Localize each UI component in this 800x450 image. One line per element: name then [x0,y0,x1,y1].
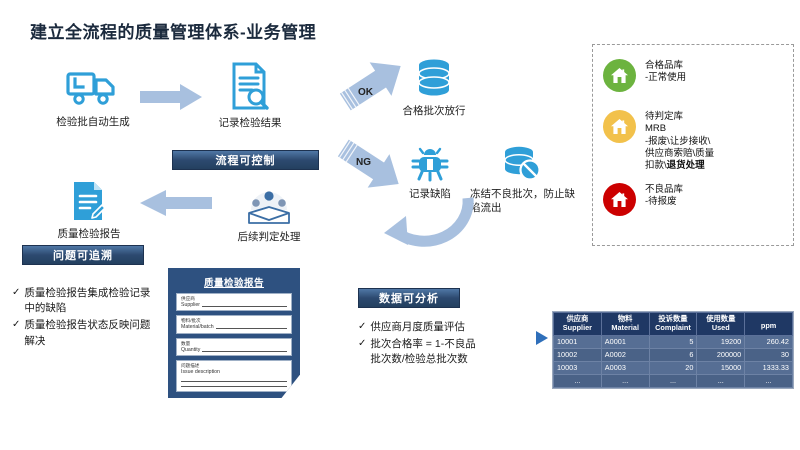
table-header-supplier-en: Supplier [557,324,598,333]
cell-complaint: ... [649,374,697,387]
list-item-label: 质量检验报告集成检验记录中的缺陷 [24,286,154,316]
flow-step-release-batch: 合格批次放行 [388,58,480,118]
report-field-quantity-rule [202,351,287,352]
warehouse-item-defective: 不良品库 -待报废 [593,183,793,216]
banner-problem-traceable: 问题可追溯 [22,245,144,265]
warehouse-pending-line1: 待判定库 [645,111,714,123]
bug-icon [390,148,470,182]
list-item: ✓ 供应商月度质量评估 [358,320,476,335]
arrow-loop-back [372,192,480,254]
table-header-material-en: Material [605,324,646,333]
table-header-used: 使用数量 Used [697,313,745,336]
home-icon-green [603,59,636,92]
cell-complaint: 20 [649,361,697,374]
check-icon: ✓ [358,320,366,335]
warehouse-item-defective-text: 不良品库 -待报废 [645,183,683,209]
document-search-icon [205,62,295,110]
cell-used: 200000 [697,348,745,361]
warehouse-pending-line3: -报废\让步接收\ [645,136,714,148]
warehouse-defective-line2: -待报废 [645,196,683,208]
report-field-supplier: 供应商 Supplier [176,293,292,311]
quality-report-card-title: 质量检验报告 [168,275,300,289]
traceability-checklist: ✓ 质量检验报告集成检验记录中的缺陷 ✓ 质量检验报告状态反映问题解决 [12,286,154,351]
home-icon-red [603,183,636,216]
database-icon [388,58,480,98]
table-row: 10002 A0002 6 200000 30 [554,348,793,361]
list-item: ✓ 质量检验报告集成检验记录中的缺陷 [12,286,154,316]
cell-supplier: 10001 [554,335,602,348]
table-header-material: 物料 Material [601,313,649,336]
cell-material: A0002 [601,348,649,361]
report-field-supplier-rule [202,306,287,307]
report-field-material: 物料/批次 Material/batch [176,315,292,333]
report-field-supplier-en: Supplier [181,302,200,309]
table-header-used-en: Used [700,324,741,333]
flow-step-followup-judgment-label: 后续判定处理 [228,230,310,244]
list-item: ✓ 批次合格率 = 1-不良品批次数/检验总批次数 [358,337,476,367]
warehouse-defective-line1: 不良品库 [645,184,683,196]
flow-step-followup-judgment: 后续判定处理 [228,186,310,244]
warehouse-item-qualified-text: 合格品库 -正常使用 [645,59,686,85]
flow-step-record-result-label: 记录检验结果 [205,116,295,130]
table-row: 10001 A0001 5 19200 260.42 [554,335,793,348]
table-row: 10003 A0003 20 15000 1333.33 [554,361,793,374]
flow-step-freeze-batch-label: 冻结不良批次，防止缺陷流出 [468,187,578,215]
arrow-right-1 [140,84,202,110]
table-header-row: 供应商 Supplier 物料 Material 投诉数量 Complaint … [554,313,793,336]
cell-ppm: 260.42 [745,335,793,348]
cell-used: ... [697,374,745,387]
report-field-issue: 问题描述 Issue description [176,360,292,391]
warehouse-qualified-line2: -正常使用 [645,72,686,84]
quality-report-card: 质量检验报告 供应商 Supplier 物料/批次 Material/batch… [168,268,300,398]
cell-ppm: ... [745,374,793,387]
table-header-supplier: 供应商 Supplier [554,313,602,336]
list-item: ✓ 质量检验报告状态反映问题解决 [12,318,154,348]
page-title: 建立全流程的质量管理体系-业务管理 [30,18,316,43]
flow-step-release-batch-label: 合格批次放行 [388,104,480,118]
report-field-material-en: Material/batch [181,324,214,331]
report-field-issue-rule-1 [181,381,287,382]
report-field-material-rule [216,328,287,329]
flow-step-record-result: 记录检验结果 [205,62,295,130]
cell-supplier: 10003 [554,361,602,374]
warehouse-pending-line4: 供应商索赔\质量 [645,148,714,160]
flow-step-inspection-lot: 检验批自动生成 [48,68,138,129]
banner-process-controllable: 流程可控制 [172,150,319,170]
table-row: ... ... ... ... ... [554,374,793,387]
table-header-complaint-en: Complaint [653,324,694,333]
check-icon: ✓ [12,286,20,316]
cell-ppm: 30 [745,348,793,361]
check-icon: ✓ [358,337,366,367]
analysis-checklist: ✓ 供应商月度质量评估 ✓ 批次合格率 = 1-不良品批次数/检验总批次数 [358,320,476,370]
cell-supplier: ... [554,374,602,387]
arrow-ng-label: NG [356,157,371,168]
table-header-ppm-en: ppm [748,316,789,331]
list-item-label: 供应商月度质量评估 [370,320,476,335]
cell-supplier: 10002 [554,348,602,361]
warehouse-item-pending: 待判定库 MRB -报废\让步接收\ 供应商索赔\质量 扣款\退货处理 [593,110,793,173]
report-field-issue-en: Issue description [181,369,287,376]
warehouse-pending-line5-bold: 退货处理 [667,160,705,171]
table-header-ppm: ppm [745,313,793,336]
warehouse-categories-box: 合格品库 -正常使用 待判定库 MRB -报废\让步接收\ 供应商索赔\质量 扣… [592,44,794,246]
report-field-issue-rule-2 [181,386,287,387]
list-item-label: 质量检验报告状态反映问题解决 [24,318,154,348]
banner-data-analyzable: 数据可分析 [358,288,460,308]
report-field-quantity: 数量 Quantity [176,338,292,356]
supplier-ppm-table: 供应商 Supplier 物料 Material 投诉数量 Complaint … [553,312,793,388]
arrow-ok-label: OK [358,87,373,98]
cell-material: A0003 [601,361,649,374]
report-edit-icon [42,180,136,222]
report-field-quantity-en: Quantity [181,347,200,354]
warehouse-pending-line2: MRB [645,123,714,135]
cell-material: A0001 [601,335,649,348]
truck-icon [48,68,138,110]
list-item-label: 批次合格率 = 1-不良品批次数/检验总批次数 [370,337,476,367]
triangle-pointer-icon [534,330,550,346]
cell-complaint: 6 [649,348,697,361]
home-icon-yellow [603,110,636,143]
cell-used: 19200 [697,335,745,348]
table-header-complaint: 投诉数量 Complaint [649,313,697,336]
flow-step-quality-report-label: 质量检验报告 [42,227,136,241]
warehouse-item-pending-text: 待判定库 MRB -报废\让步接收\ 供应商索赔\质量 扣款\退货处理 [645,110,714,173]
cell-material: ... [601,374,649,387]
meeting-people-icon [228,186,310,226]
cell-used: 15000 [697,361,745,374]
arrow-left-1 [140,190,212,216]
check-icon: ✓ [12,318,20,348]
cell-ppm: 1333.33 [745,361,793,374]
flow-step-freeze-batch: 冻结不良批次，防止缺陷流出 [468,145,578,215]
cell-complaint: 5 [649,335,697,348]
warehouse-pending-line5: 扣款\退货处理 [645,160,714,172]
warehouse-item-qualified: 合格品库 -正常使用 [593,59,793,92]
flow-step-inspection-lot-label: 检验批自动生成 [48,115,138,129]
flow-step-quality-report: 质量检验报告 [42,180,136,241]
database-blocked-icon [468,145,578,183]
warehouse-qualified-line1: 合格品库 [645,60,686,72]
warehouse-pending-line5-prefix: 扣款\ [645,160,667,171]
